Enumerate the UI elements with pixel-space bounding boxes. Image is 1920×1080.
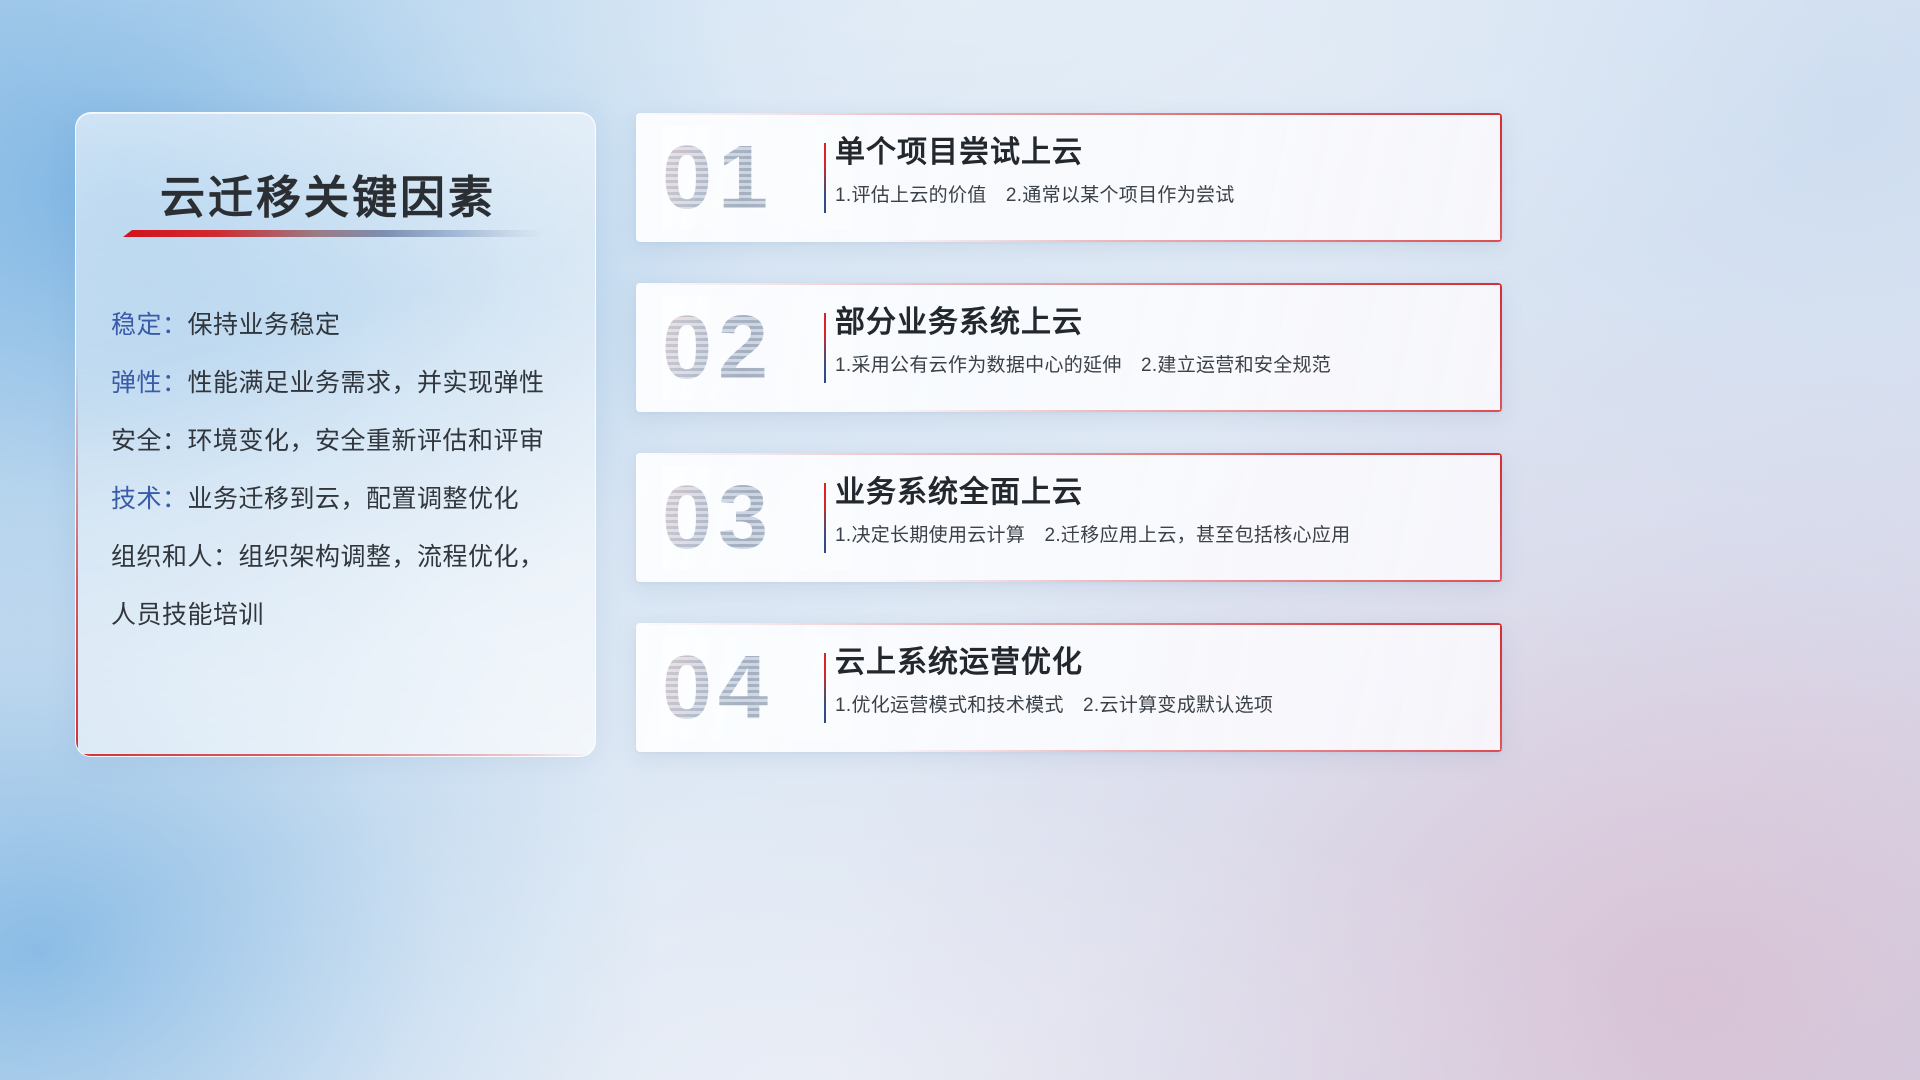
key-factor-row: 安全：环境变化，安全重新评估和评审 — [111, 425, 573, 457]
key-factors-list: 稳定：保持业务稳定弹性：性能满足业务需求，并实现弹性安全：环境变化，安全重新评估… — [111, 309, 573, 657]
key-factor-label: 弹性： — [111, 369, 188, 397]
key-factor-row: 技术：业务迁移到云，配置调整优化 — [111, 483, 573, 515]
card-bottom-accent — [878, 750, 1502, 752]
card-top-accent — [636, 283, 1502, 285]
key-factor-text: 环境变化，安全重新评估和评审 — [188, 427, 545, 455]
card-top-accent — [636, 113, 1502, 115]
key-factor-row: 弹性：性能满足业务需求，并实现弹性 — [111, 367, 573, 399]
key-factor-label: 组织和人： — [111, 543, 239, 571]
step-text-group: 部分业务系统上云1.采用公有云作为数据中心的延伸 2.建立运营和安全规范 — [835, 303, 1486, 379]
key-factor-text: 组织架构调整，流程优化， — [239, 543, 545, 571]
step-card[interactable]: 02部分业务系统上云1.采用公有云作为数据中心的延伸 2.建立运营和安全规范 — [636, 283, 1502, 412]
step-divider — [824, 313, 826, 383]
step-subtitle: 1.评估上云的价值 2.通常以某个项目作为尝试 — [835, 183, 1486, 209]
key-factor-row: 组织和人：组织架构调整，流程优化， — [111, 541, 573, 573]
panel-bottom-accent — [76, 754, 595, 756]
card-bottom-accent — [878, 240, 1502, 242]
card-bottom-accent — [878, 410, 1502, 412]
key-factor-row: 人员技能培训 — [111, 599, 573, 631]
key-factor-text: 人员技能培训 — [111, 601, 264, 629]
page-title: 云迁移关键因素 — [160, 161, 496, 226]
step-text-group: 单个项目尝试上云1.评估上云的价值 2.通常以某个项目作为尝试 — [835, 133, 1486, 209]
key-factor-text: 保持业务稳定 — [188, 311, 341, 339]
step-card[interactable]: 01单个项目尝试上云1.评估上云的价值 2.通常以某个项目作为尝试 — [636, 113, 1502, 242]
card-bottom-accent — [878, 580, 1502, 582]
card-top-accent — [636, 453, 1502, 455]
title-underline-rule — [123, 230, 543, 237]
card-top-accent — [636, 623, 1502, 625]
key-factors-panel: 云迁移关键因素 稳定：保持业务稳定弹性：性能满足业务需求，并实现弹性安全：环境变… — [75, 112, 596, 757]
card-right-accent — [1500, 113, 1502, 242]
step-card[interactable]: 04云上系统运营优化1.优化运营模式和技术模式 2.云计算变成默认选项 — [636, 623, 1502, 752]
slide-stage: 云迁移关键因素 稳定：保持业务稳定弹性：性能满足业务需求，并实现弹性安全：环境变… — [0, 0, 1920, 1080]
card-right-accent — [1500, 283, 1502, 412]
key-factor-text: 性能满足业务需求，并实现弹性 — [188, 369, 545, 397]
step-subtitle: 1.决定长期使用云计算 2.迁移应用上云，甚至包括核心应用 — [835, 523, 1486, 549]
key-factor-row: 稳定：保持业务稳定 — [111, 309, 573, 341]
step-subtitle: 1.采用公有云作为数据中心的延伸 2.建立运营和安全规范 — [835, 353, 1486, 379]
step-title: 业务系统全面上云 — [835, 473, 1486, 513]
step-divider — [824, 483, 826, 553]
card-right-accent — [1500, 453, 1502, 582]
card-right-accent — [1500, 623, 1502, 752]
step-title: 部分业务系统上云 — [835, 303, 1486, 343]
key-factor-text: 业务迁移到云，配置调整优化 — [188, 485, 520, 513]
step-text-group: 业务系统全面上云1.决定长期使用云计算 2.迁移应用上云，甚至包括核心应用 — [835, 473, 1486, 549]
step-divider — [824, 653, 826, 723]
step-divider — [824, 143, 826, 213]
step-subtitle: 1.优化运营模式和技术模式 2.云计算变成默认选项 — [835, 693, 1486, 719]
key-factor-label: 稳定： — [111, 311, 188, 339]
step-title: 单个项目尝试上云 — [835, 133, 1486, 173]
step-card[interactable]: 03业务系统全面上云1.决定长期使用云计算 2.迁移应用上云，甚至包括核心应用 — [636, 453, 1502, 582]
key-factor-label: 安全： — [111, 427, 188, 455]
key-factor-label: 技术： — [111, 485, 188, 513]
step-text-group: 云上系统运营优化1.优化运营模式和技术模式 2.云计算变成默认选项 — [835, 643, 1486, 719]
step-title: 云上系统运营优化 — [835, 643, 1486, 683]
migration-steps-list: 01单个项目尝试上云1.评估上云的价值 2.通常以某个项目作为尝试02部分业务系… — [636, 113, 1502, 793]
